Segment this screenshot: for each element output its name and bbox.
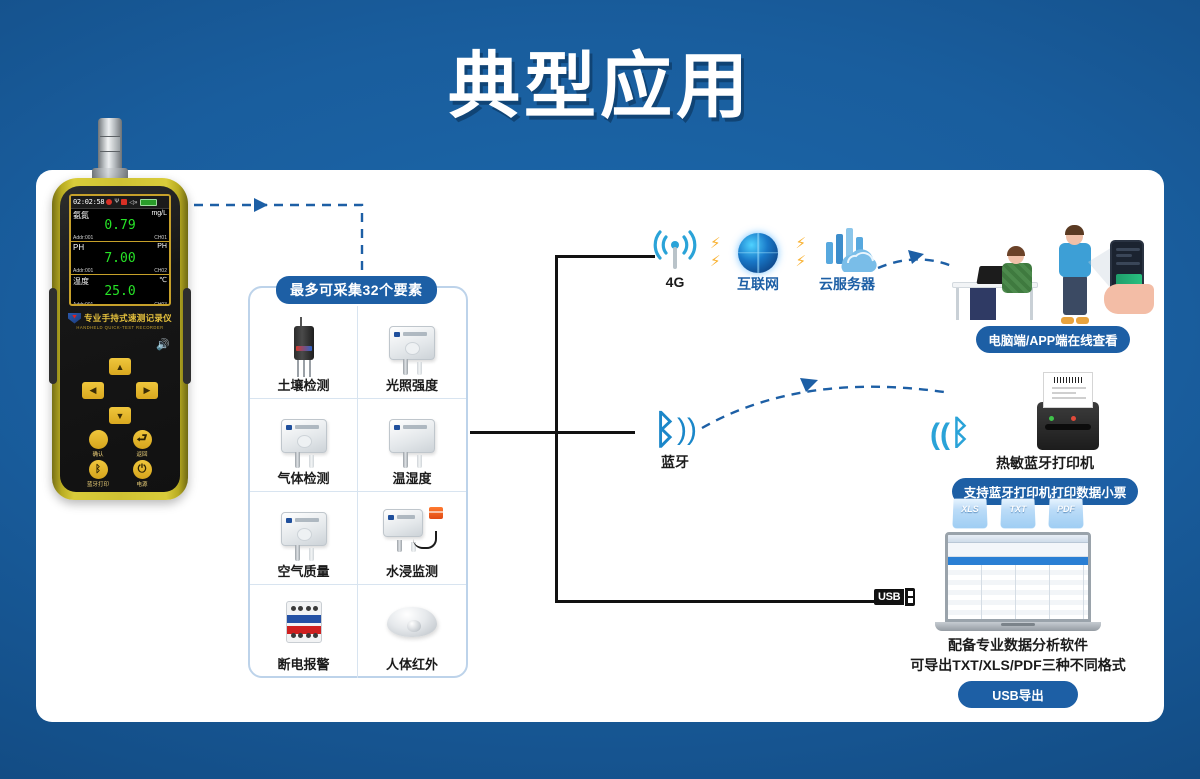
device-brand-name: 专业手持式速测记录仪 — [84, 312, 172, 324]
screen-reading-row: PH PH 7.00 Addr:001 CH02 — [71, 242, 169, 275]
device-round-buttons: 确认 ⮐ 返回 ᛒ 蓝牙打印 ⏻ 电源 — [74, 430, 166, 492]
sensor-item-pir[interactable]: 人体红外 — [358, 585, 466, 678]
reading-channel: CH02 — [154, 268, 167, 274]
power-icon: ⏻ — [133, 460, 152, 479]
online-view-badge: 电脑端/APP端在线查看 — [976, 326, 1129, 353]
soil-sensor-icon — [294, 314, 314, 372]
file-type-label: XLS — [953, 504, 987, 514]
reading-address: Addr:001 — [73, 235, 93, 241]
sensor-grid: 土壤检测 光照强度 气体检测 温湿度 空气质量 — [250, 306, 466, 678]
sensor-item-power-alarm[interactable]: 断电报警 — [250, 585, 358, 678]
pdf-file-icon: PDF — [1048, 499, 1083, 529]
reading-value: 25.0 — [71, 284, 169, 299]
device-brand-en: HANDHELD QUICK-TEST RECORDER — [64, 325, 176, 330]
laptop-icon — [945, 532, 1091, 622]
sensor-label: 水浸监测 — [386, 561, 438, 580]
sensor-item-water-leak[interactable]: 水浸监测 — [358, 492, 466, 585]
globe-icon: ⚡ ⚡ ⚡ ⚡ — [722, 228, 794, 274]
confirm-icon — [89, 430, 108, 449]
handheld-recorder-device: 02:02:58 Ψ ◁» 氨氮 mg/L 0.79 Addr:001 CH01… — [36, 118, 204, 502]
dpad-right-button[interactable]: ▶ — [136, 382, 158, 399]
speaker-icon: 🔊 — [156, 338, 170, 351]
screen-status-bar: 02:02:58 Ψ ◁» — [71, 196, 169, 209]
cloud-server-icon — [808, 228, 886, 274]
sensor-label: 人体红外 — [386, 654, 438, 673]
sensor-item-gas[interactable]: 气体检测 — [250, 399, 358, 492]
sensor-label: 断电报警 — [277, 654, 329, 673]
reading-value: 0.79 — [71, 218, 169, 233]
bracket-branch-bluetooth — [555, 431, 635, 434]
dpad-left-button[interactable]: ◀ — [82, 382, 104, 399]
air-quality-sensor-icon — [281, 500, 327, 558]
txt-file-icon: TXT — [1000, 499, 1035, 529]
device-body: 02:02:58 Ψ ◁» 氨氮 mg/L 0.79 Addr:001 CH01… — [52, 178, 188, 500]
direction-pad: ▲ ◀ ▶ ▼ — [82, 358, 158, 424]
usb-export-badge: USB导出 — [958, 681, 1077, 708]
hand-holding-phone-icon — [1104, 240, 1156, 314]
light-intensity-sensor-icon — [389, 314, 435, 372]
power-failure-alarm-icon — [286, 593, 322, 651]
usb-connector-icon: USB — [874, 588, 915, 606]
reading-value: 7.00 — [71, 251, 169, 266]
export-file-icons: XLS TXT PDF — [878, 498, 1158, 528]
sensor-item-soil[interactable]: 土壤检测 — [250, 306, 358, 399]
power-label: 电源 — [122, 480, 162, 488]
sensor-label: 气体检测 — [277, 468, 329, 487]
bracket-branch-usb — [555, 600, 880, 603]
file-type-label: PDF — [1049, 504, 1083, 514]
node-cloud-label: 云服务器 — [808, 274, 886, 294]
device-faceplate: 02:02:58 Ψ ◁» 氨氮 mg/L 0.79 Addr:001 CH01… — [60, 186, 180, 492]
sensor-panel-badge: 最多可采集32个要素 — [276, 276, 437, 304]
device-grip-left — [49, 288, 57, 384]
dpad-down-button[interactable]: ▼ — [109, 407, 131, 424]
bluetooth-signal-icon: ((ᛒ — [930, 418, 970, 450]
company-logo-icon — [68, 313, 81, 324]
device-grip-right — [183, 288, 191, 384]
antenna-icon: Ψ — [114, 199, 119, 205]
confirm-button[interactable]: 确认 — [78, 430, 118, 458]
reading-address: Addr:001 — [73, 302, 93, 306]
bluetooth-print-button[interactable]: ᛒ 蓝牙打印 — [78, 460, 118, 488]
node-bluetooth-label: 蓝牙 — [628, 452, 722, 472]
power-button[interactable]: ⏻ 电源 — [122, 460, 162, 488]
laptop-screen — [945, 532, 1091, 622]
back-label: 返回 — [122, 450, 162, 458]
person-with-laptop-icon — [998, 248, 1038, 308]
screen-clock: 02:02:58 — [73, 198, 104, 206]
sensor-item-temp-humidity[interactable]: 温湿度 — [358, 399, 466, 492]
usb-plug-tip — [905, 588, 915, 606]
bluetooth-icon: ᛒ)) — [628, 408, 722, 452]
confirm-label: 确认 — [78, 450, 118, 458]
file-type-label: TXT — [1001, 504, 1035, 514]
printer-label: 热敏蓝牙打印机 — [930, 453, 1160, 473]
laptop-base — [935, 622, 1101, 631]
bracket-line-from-panel — [470, 431, 558, 434]
node-internet: ⚡ ⚡ ⚡ ⚡ 互联网 — [722, 228, 794, 294]
node-pc-software: XLS TXT PDF 配备专业数据分析软件 可导出TXT/XLS/PDF三种不… — [878, 498, 1158, 708]
bluetooth-print-label: 蓝牙打印 — [78, 480, 118, 488]
sensor-label: 光照强度 — [386, 375, 438, 394]
sensor-types-panel: 土壤检测 光照强度 气体检测 温湿度 空气质量 — [248, 286, 468, 678]
node-internet-label: 互联网 — [722, 274, 794, 294]
node-bluetooth: ᛒ)) 蓝牙 — [628, 408, 722, 472]
sensor-item-light[interactable]: 光照强度 — [358, 306, 466, 399]
device-probe-icon — [98, 118, 122, 172]
screen-reading-row: 氨氮 mg/L 0.79 Addr:001 CH01 — [71, 209, 169, 242]
sensor-item-air-quality[interactable]: 空气质量 — [250, 492, 358, 585]
reading-channel: CH03 — [154, 302, 167, 306]
bracket-vertical-line — [555, 255, 558, 603]
sensor-label: 土壤检测 — [277, 375, 329, 394]
dpad-up-button[interactable]: ▲ — [109, 358, 131, 375]
battery-icon — [140, 199, 157, 206]
temperature-humidity-sensor-icon — [389, 407, 435, 465]
reading-unit: mg/L — [151, 210, 167, 217]
device-screen: 02:02:58 Ψ ◁» 氨氮 mg/L 0.79 Addr:001 CH01… — [69, 194, 171, 306]
reading-channel: CH01 — [154, 235, 167, 241]
reading-address: Addr:001 — [73, 268, 93, 274]
printer-icon — [1037, 402, 1099, 450]
node-cloud-server: 云服务器 — [808, 228, 886, 294]
node-4g-label: 4G — [640, 274, 710, 290]
pir-motion-sensor-icon — [387, 593, 437, 651]
receipt-paper-icon — [1043, 372, 1093, 408]
node-4g: 4G — [640, 228, 710, 290]
xls-file-icon: XLS — [952, 499, 987, 529]
gas-sensor-icon — [281, 407, 327, 465]
back-arrow-icon: ⮐ — [133, 430, 152, 449]
reading-unit: PH — [157, 243, 167, 250]
people-illustration-icon — [946, 222, 1160, 326]
sensor-label: 温湿度 — [392, 468, 431, 487]
device-branding: 专业手持式速测记录仪 HANDHELD QUICK-TEST RECORDER — [64, 312, 176, 330]
software-line-1: 配备专业数据分析软件 — [878, 635, 1158, 655]
reading-unit: ℃ — [159, 276, 167, 284]
sound-icon: ◁» — [129, 199, 137, 206]
node-online-viewers: 电脑端/APP端在线查看 — [946, 222, 1160, 353]
cellular-signal-icon — [640, 228, 710, 274]
water-leak-sensor-icon — [383, 500, 441, 558]
record-icon — [121, 199, 127, 205]
node-thermal-printer: ((ᛒ 热敏蓝牙打印机 支持蓝牙打印机打印数据小票 — [930, 368, 1160, 505]
alarm-icon — [106, 199, 112, 205]
software-line-2: 可导出TXT/XLS/PDF三种不同格式 — [878, 655, 1158, 675]
usb-plug-label: USB — [874, 589, 904, 605]
screen-reading-row: 温度 ℃ 25.0 Addr:001 CH03 — [71, 275, 169, 306]
bluetooth-icon: ᛒ — [89, 460, 108, 479]
sensor-label: 空气质量 — [277, 561, 329, 580]
back-button[interactable]: ⮐ 返回 — [122, 430, 162, 458]
